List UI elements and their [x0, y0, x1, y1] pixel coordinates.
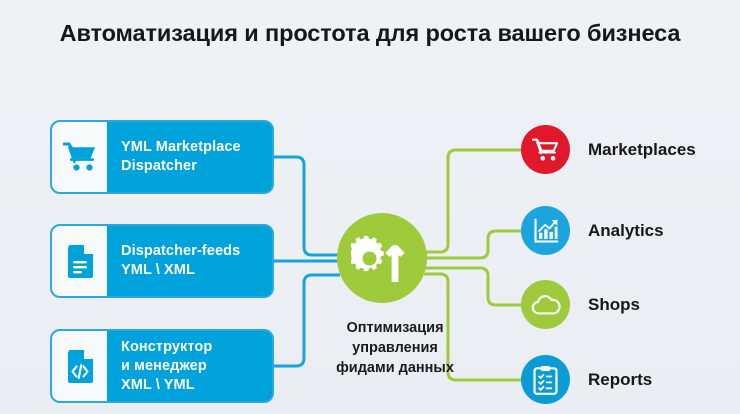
input-card-3-line-2: и менеджер [121, 357, 212, 376]
input-card-konstruktor-menedzher[interactable]: Конструктор и менеджер XML \ YML [50, 329, 274, 403]
hub-optimization-node[interactable] [337, 213, 427, 303]
input-card-1-label: YML Marketplace Dispatcher [107, 122, 272, 192]
input-card-2-line-2: YML \ XML [121, 261, 240, 280]
input-card-2-label: Dispatcher-feeds YML \ XML [107, 226, 272, 296]
cloud-icon [521, 280, 570, 329]
hub-caption-line-2: управления [300, 338, 490, 358]
output-label-shops: Shops [588, 295, 640, 315]
wire-output-2 [424, 231, 522, 258]
shopping-cart-icon [52, 122, 107, 192]
input-card-yml-marketplace-dispatcher[interactable]: YML Marketplace Dispatcher [50, 120, 274, 194]
output-item-marketplaces[interactable]: Marketplaces [521, 125, 696, 174]
output-label-marketplaces: Marketplaces [588, 140, 696, 160]
input-card-3-line-3: XML \ YML [121, 376, 212, 395]
gear-growth-arrow-icon [351, 233, 413, 283]
output-item-shops[interactable]: Shops [521, 280, 640, 329]
hub-caption-line-1: Оптимизация [300, 318, 490, 338]
shopping-cart-icon [521, 125, 570, 174]
input-card-2-line-1: Dispatcher-feeds [121, 242, 240, 261]
input-card-3-line-1: Конструктор [121, 338, 212, 357]
output-item-reports[interactable]: Reports [521, 355, 652, 404]
output-item-analytics[interactable]: Analytics [521, 206, 664, 255]
output-label-analytics: Analytics [588, 221, 664, 241]
clipboard-checklist-icon [521, 355, 570, 404]
wire-output-1 [424, 150, 522, 252]
output-label-reports: Reports [588, 370, 652, 390]
input-card-1-line-1: YML Marketplace [121, 138, 241, 157]
input-card-3-label: Конструктор и менеджер XML \ YML [107, 331, 272, 401]
input-card-dispatcher-feeds[interactable]: Dispatcher-feeds YML \ XML [50, 224, 274, 298]
hub-caption-line-3: фидами данных [300, 358, 490, 378]
input-card-1-line-2: Dispatcher [121, 157, 241, 176]
document-lines-icon [52, 226, 107, 296]
infographic-canvas: Автоматизация и простота для роста вашег… [0, 0, 740, 414]
wire-input-1 [274, 157, 340, 255]
bar-chart-arrow-icon [521, 206, 570, 255]
document-code-icon [52, 331, 107, 401]
hub-caption: Оптимизация управления фидами данных [300, 318, 490, 378]
